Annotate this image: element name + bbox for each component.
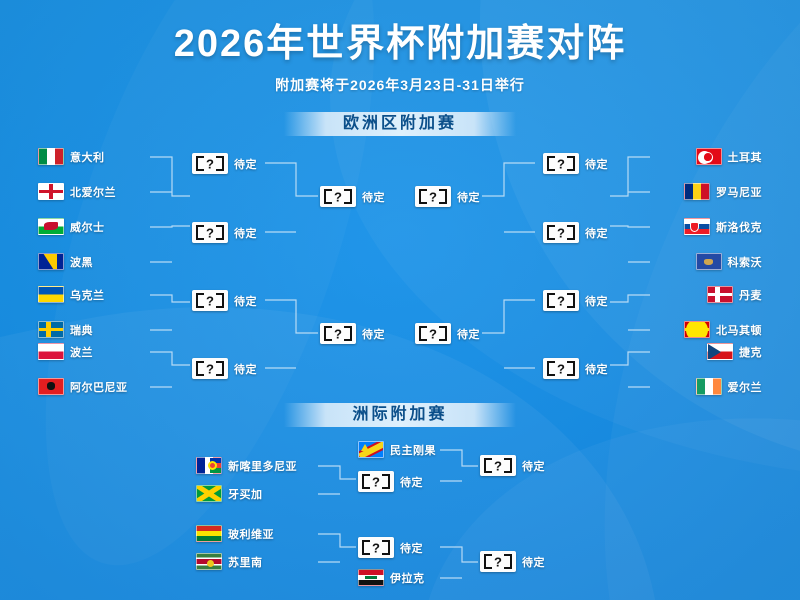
question-mark-icon: ?	[192, 358, 228, 379]
question-mark-icon: ?	[543, 153, 579, 174]
question-mark-icon: ?	[543, 358, 579, 379]
question-glyph: ?	[320, 327, 356, 340]
team-row[interactable]: 玻利维亚	[196, 525, 274, 542]
team-name: 波兰	[70, 344, 93, 360]
question-glyph: ?	[358, 541, 394, 554]
question-mark-icon: ?	[358, 471, 394, 492]
team-name: 土耳其	[728, 149, 763, 165]
team-row[interactable]: 北爱尔兰	[38, 183, 116, 200]
team-row[interactable]: 瑞典	[38, 321, 93, 338]
question-mark-icon: ?	[320, 323, 356, 344]
question-mark-icon: ?	[415, 186, 451, 207]
tbd-label: 待定	[585, 225, 608, 241]
tbd-label: 待定	[234, 225, 257, 241]
team-row[interactable]: 乌克兰	[38, 286, 105, 303]
flag-newcaledonia-icon	[196, 457, 222, 474]
team-row[interactable]: 爱尔兰	[696, 378, 763, 395]
tbd-slot[interactable]: 待定 ?	[543, 153, 608, 174]
team-name: 波黑	[70, 254, 93, 270]
tbd-slot-final[interactable]: ? 待定	[480, 455, 545, 476]
team-name: 捷克	[739, 344, 762, 360]
team-row[interactable]: 意大利	[38, 148, 105, 165]
tbd-label: 待定	[585, 156, 608, 172]
tbd-label: 待定	[234, 156, 257, 172]
question-mark-icon: ?	[543, 290, 579, 311]
team-row[interactable]: 威尔士	[38, 218, 105, 235]
flag-poland-icon	[38, 343, 64, 360]
question-glyph: ?	[543, 157, 579, 170]
flag-wales-icon	[38, 218, 64, 235]
flag-albania-icon	[38, 378, 64, 395]
flag-kosovo-icon	[696, 253, 722, 270]
tbd-label: 待定	[585, 293, 608, 309]
team-name: 科索沃	[728, 254, 763, 270]
question-glyph: ?	[192, 157, 228, 170]
team-name: 苏里南	[228, 554, 263, 570]
flag-iraq-icon	[358, 569, 384, 586]
tbd-label: 待定	[457, 326, 480, 342]
question-mark-icon: ?	[480, 455, 516, 476]
tbd-label: 待定	[457, 189, 480, 205]
flag-nireland-icon	[38, 183, 64, 200]
team-name: 丹麦	[739, 287, 762, 303]
question-glyph: ?	[543, 294, 579, 307]
flag-bolivia-icon	[196, 525, 222, 542]
team-row[interactable]: 北马其顿	[684, 321, 762, 338]
tbd-label: 待定	[522, 554, 545, 570]
poster-header: 2026年世界杯附加赛对阵 附加赛将于2026年3月23日-31日举行	[0, 24, 800, 95]
tbd-slot-final[interactable]: 待定 ?	[415, 186, 480, 207]
flag-czech-icon	[707, 343, 733, 360]
question-mark-icon: ?	[192, 153, 228, 174]
tbd-slot[interactable]: ? 待定	[358, 537, 423, 558]
team-row[interactable]: 波黑	[38, 253, 93, 270]
tbd-slot-final[interactable]: ? 待定	[320, 186, 385, 207]
tbd-label: 待定	[362, 326, 385, 342]
question-mark-icon: ?	[480, 551, 516, 572]
tbd-slot-final[interactable]: 待定 ?	[415, 323, 480, 344]
tbd-label: 待定	[362, 189, 385, 205]
team-row-seeded[interactable]: 民主刚果	[358, 441, 436, 458]
tbd-slot-final[interactable]: ? 待定	[480, 551, 545, 572]
tbd-label: 待定	[522, 458, 545, 474]
tbd-slot[interactable]: 待定 ?	[543, 222, 608, 243]
flag-sweden-icon	[38, 321, 64, 338]
tbd-label: 待定	[400, 474, 423, 490]
team-row[interactable]: 苏里南	[196, 553, 263, 570]
section-header-intercontinental: 洲际附加赛	[284, 403, 516, 427]
team-name: 玻利维亚	[228, 526, 274, 542]
flag-denmark-icon	[707, 286, 733, 303]
question-mark-icon: ?	[358, 537, 394, 558]
team-row[interactable]: 丹麦	[707, 286, 762, 303]
question-glyph: ?	[320, 190, 356, 203]
team-row[interactable]: 罗马尼亚	[684, 183, 762, 200]
question-glyph: ?	[480, 459, 516, 472]
flag-italy-icon	[38, 148, 64, 165]
page-title: 2026年世界杯附加赛对阵	[0, 24, 800, 66]
team-row-seeded[interactable]: 伊拉克	[358, 569, 425, 586]
question-glyph: ?	[480, 555, 516, 568]
team-row[interactable]: 牙买加	[196, 485, 263, 502]
team-name: 乌克兰	[70, 287, 105, 303]
team-name: 民主刚果	[390, 442, 436, 458]
flag-jamaica-icon	[196, 485, 222, 502]
team-row[interactable]: 斯洛伐克	[684, 218, 762, 235]
section-header-europe: 欧洲区附加赛	[284, 112, 516, 136]
tbd-label: 待定	[400, 540, 423, 556]
question-glyph: ?	[358, 475, 394, 488]
team-name: 伊拉克	[390, 570, 425, 586]
flag-drcongo-icon	[358, 441, 384, 458]
team-name: 新喀里多尼亚	[228, 458, 297, 474]
flag-nmacedonia-icon	[684, 321, 710, 338]
tbd-label: 待定	[585, 361, 608, 377]
tbd-slot[interactable]: ? 待定	[192, 358, 257, 379]
team-row[interactable]: 捷克	[707, 343, 762, 360]
team-name: 北爱尔兰	[70, 184, 116, 200]
question-glyph: ?	[543, 362, 579, 375]
page-subtitle: 附加赛将于2026年3月23日-31日举行	[0, 75, 800, 95]
question-mark-icon: ?	[192, 290, 228, 311]
question-glyph: ?	[543, 226, 579, 239]
flag-suriname-icon	[196, 553, 222, 570]
tbd-label: 待定	[234, 293, 257, 309]
flag-ukraine-icon	[38, 286, 64, 303]
question-mark-icon: ?	[320, 186, 356, 207]
team-row[interactable]: 科索沃	[696, 253, 763, 270]
team-row[interactable]: 土耳其	[696, 148, 763, 165]
question-glyph: ?	[192, 362, 228, 375]
question-mark-icon: ?	[192, 222, 228, 243]
team-row[interactable]: 新喀里多尼亚	[196, 457, 297, 474]
tbd-slot[interactable]: ? 待定	[192, 290, 257, 311]
tbd-label: 待定	[234, 361, 257, 377]
team-row[interactable]: 波兰	[38, 343, 93, 360]
tbd-slot[interactable]: ? 待定	[358, 471, 423, 492]
team-name: 牙买加	[228, 486, 263, 502]
flag-bosnia-icon	[38, 253, 64, 270]
team-name: 北马其顿	[716, 322, 762, 338]
team-name: 威尔士	[70, 219, 105, 235]
team-name: 阿尔巴尼亚	[70, 379, 128, 395]
tbd-slot[interactable]: ? 待定	[192, 222, 257, 243]
team-name: 瑞典	[70, 322, 93, 338]
team-name: 爱尔兰	[728, 379, 763, 395]
question-glyph: ?	[192, 226, 228, 239]
question-glyph: ?	[415, 190, 451, 203]
question-glyph: ?	[415, 327, 451, 340]
bracket-poster: 2026年世界杯附加赛对阵 附加赛将于2026年3月23日-31日举行 欧洲区附…	[0, 0, 800, 600]
tbd-slot[interactable]: 待定 ?	[543, 358, 608, 379]
tbd-slot-final[interactable]: ? 待定	[320, 323, 385, 344]
team-name: 斯洛伐克	[716, 219, 762, 235]
team-name: 意大利	[70, 149, 105, 165]
question-mark-icon: ?	[543, 222, 579, 243]
team-name: 罗马尼亚	[716, 184, 762, 200]
tbd-slot[interactable]: ? 待定	[192, 153, 257, 174]
flag-turkey-icon	[696, 148, 722, 165]
flag-slovakia-icon	[684, 218, 710, 235]
flag-romania-icon	[684, 183, 710, 200]
tbd-slot[interactable]: 待定 ?	[543, 290, 608, 311]
question-mark-icon: ?	[415, 323, 451, 344]
team-row[interactable]: 阿尔巴尼亚	[38, 378, 128, 395]
flag-ireland-icon	[696, 378, 722, 395]
question-glyph: ?	[192, 294, 228, 307]
